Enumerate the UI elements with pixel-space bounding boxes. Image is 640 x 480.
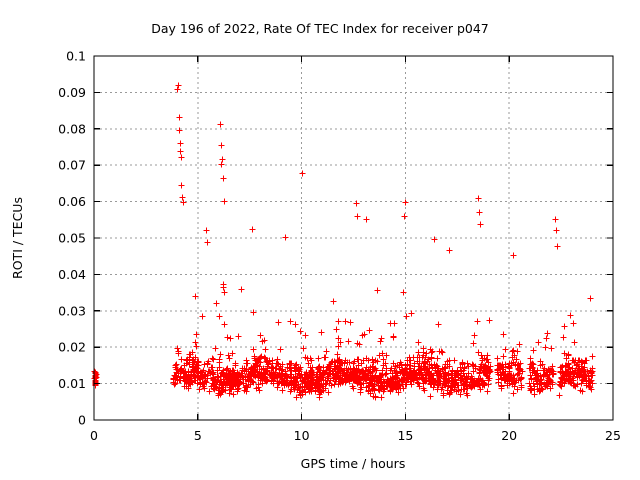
x-tick-label: 5 [194,428,202,443]
y-tick-label: 0.02 [58,340,86,355]
x-tick-label: 15 [397,428,413,443]
y-tick-label: 0.06 [58,194,86,209]
y-tick-label: 0.01 [58,376,86,391]
y-tick-label: 0.07 [58,158,86,173]
scatter-plot-canvas: Day 196 of 2022, Rate Of TEC Index for r… [0,0,640,480]
x-tick-label: 0 [90,428,98,443]
x-tick-label: 25 [605,428,621,443]
x-axis-label: GPS time / hours [301,456,406,471]
x-tick-label: 10 [294,428,310,443]
chart-title: Day 196 of 2022, Rate Of TEC Index for r… [151,21,488,36]
figure-background [0,0,640,480]
y-tick-label: 0.08 [58,121,86,136]
x-tick-label: 20 [501,428,517,443]
y-tick-label: 0.1 [66,49,86,64]
chart-figure: Day 196 of 2022, Rate Of TEC Index for r… [0,0,640,480]
y-tick-label: 0.03 [58,303,86,318]
y-tick-label: 0.04 [58,267,86,282]
y-tick-label: 0.09 [58,85,86,100]
y-axis-label: ROTI / TECUs [10,197,25,279]
y-tick-label: 0.05 [58,231,86,246]
y-tick-label: 0 [78,413,86,428]
